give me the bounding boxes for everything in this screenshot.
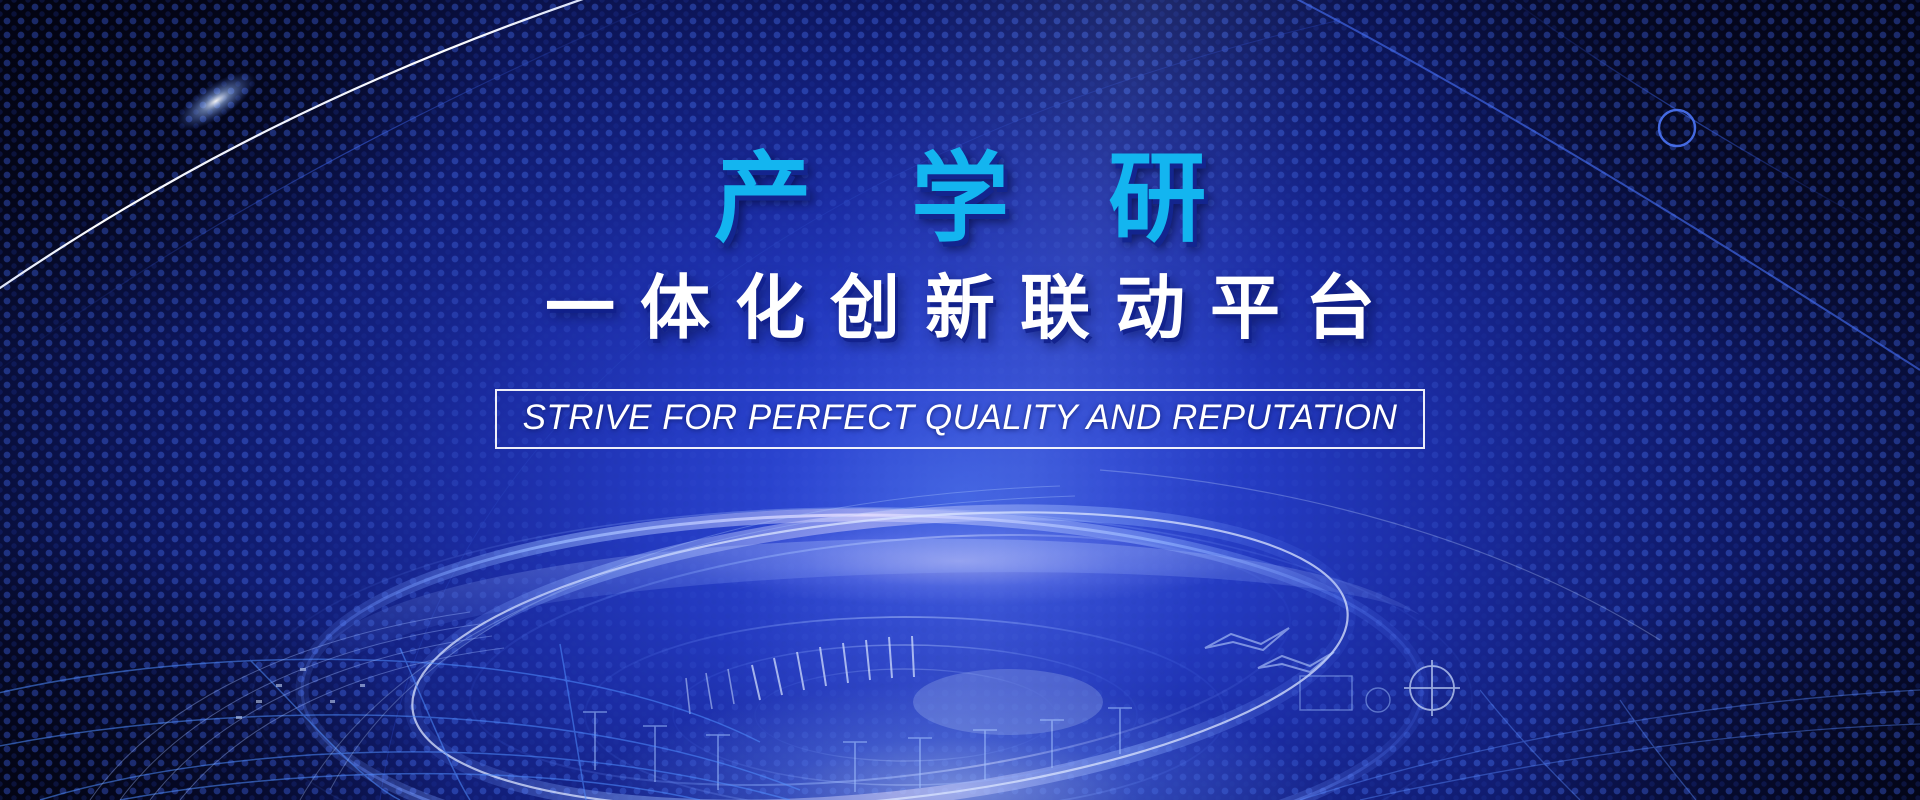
subtitle-english: STRIVE FOR PERFECT QUALITY AND REPUTATIO… <box>523 398 1398 437</box>
hero-banner: 产 学 研 一体化创新联动平台 STRIVE FOR PERFECT QUALI… <box>0 0 1920 800</box>
swoosh-lines <box>300 486 1075 800</box>
subtitle-box: STRIVE FOR PERFECT QUALITY AND REPUTATIO… <box>495 389 1426 449</box>
swoosh-line-right <box>1100 470 1660 640</box>
page-title-secondary: 一体化创新联动平台 <box>520 272 1400 346</box>
page-title-primary: 产 学 研 <box>678 148 1242 250</box>
